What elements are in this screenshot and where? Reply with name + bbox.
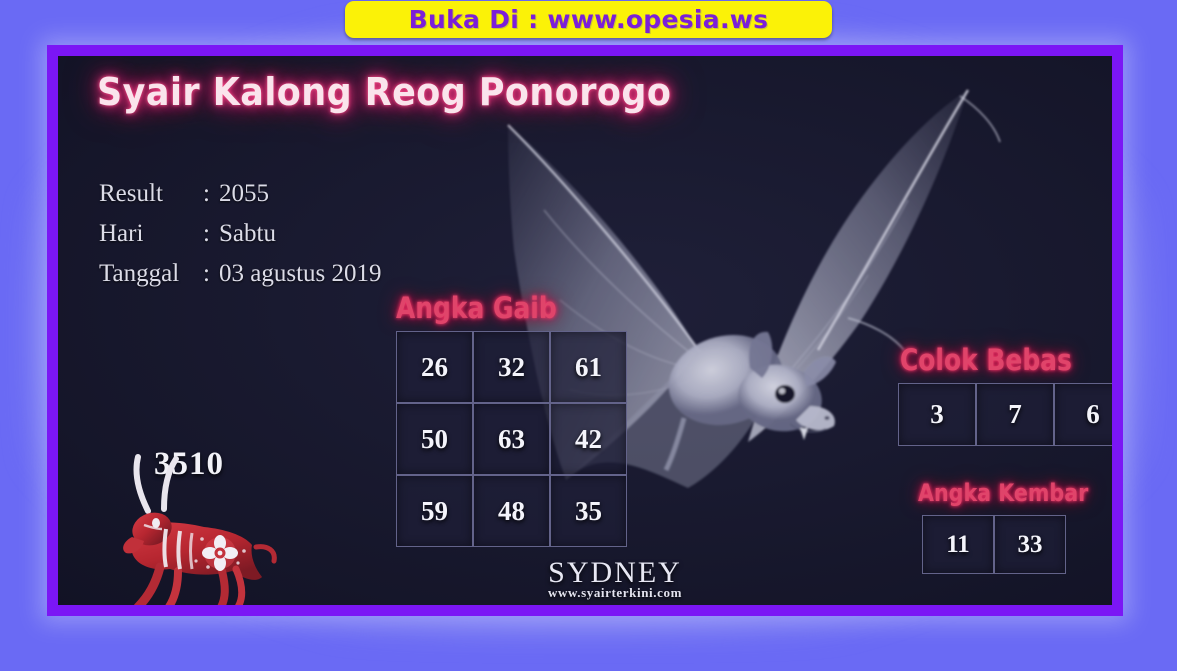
promo-banner-text: Buka Di : www.opesia.ws (409, 5, 769, 34)
page-title: Syair Kalong Reog Ponorogo (97, 70, 671, 114)
info-value-tanggal: 03 agustus 2019 (219, 254, 382, 294)
colok-bebas-cell: 6 (1054, 383, 1112, 446)
angka-gaib-cell: 59 (396, 475, 473, 547)
info-sep-result: : (203, 174, 219, 214)
angka-gaib-cell: 42 (550, 403, 627, 475)
angka-gaib-cell: 63 (473, 403, 550, 475)
angka-gaib-cell: 50 (396, 403, 473, 475)
result-info-block: Result : 2055 Hari : Sabtu Tanggal : 03 … (99, 174, 382, 294)
section-heading-colok-bebas: Colok Bebas (900, 343, 1072, 377)
info-row-result: Result : 2055 (99, 174, 382, 214)
angka-gaib-cell: 26 (396, 331, 473, 403)
section-heading-angka-gaib: Angka Gaib (396, 291, 557, 325)
poster-panel: Syair Kalong Reog Ponorogo Result : 2055… (58, 56, 1112, 605)
angka-gaib-cell: 61 (550, 331, 627, 403)
colok-bebas-grid: 3 7 6 (898, 383, 1112, 446)
site-watermark: www.syairterkini.com (58, 585, 1112, 601)
info-row-hari: Hari : Sabtu (99, 214, 382, 254)
info-value-result: 2055 (219, 174, 269, 214)
angka-gaib-cell: 35 (550, 475, 627, 547)
angka-gaib-grid: 26 32 61 50 63 42 59 48 35 (396, 331, 627, 547)
colok-bebas-cell: 7 (976, 383, 1054, 446)
info-value-hari: Sabtu (219, 214, 276, 254)
info-label-hari: Hari (99, 214, 203, 254)
info-row-tanggal: Tanggal : 03 agustus 2019 (99, 254, 382, 294)
section-heading-angka-kembar: Angka Kembar (918, 479, 1088, 507)
colok-bebas-cell: 3 (898, 383, 976, 446)
info-sep-hari: : (203, 214, 219, 254)
info-label-result: Result (99, 174, 203, 214)
angka-gaib-cell: 48 (473, 475, 550, 547)
info-label-tanggal: Tanggal (99, 254, 203, 294)
angka-gaib-cell: 32 (473, 331, 550, 403)
poster-frame: Syair Kalong Reog Ponorogo Result : 2055… (47, 45, 1123, 616)
info-sep-tanggal: : (203, 254, 219, 294)
promo-banner[interactable]: Buka Di : www.opesia.ws (345, 1, 832, 38)
